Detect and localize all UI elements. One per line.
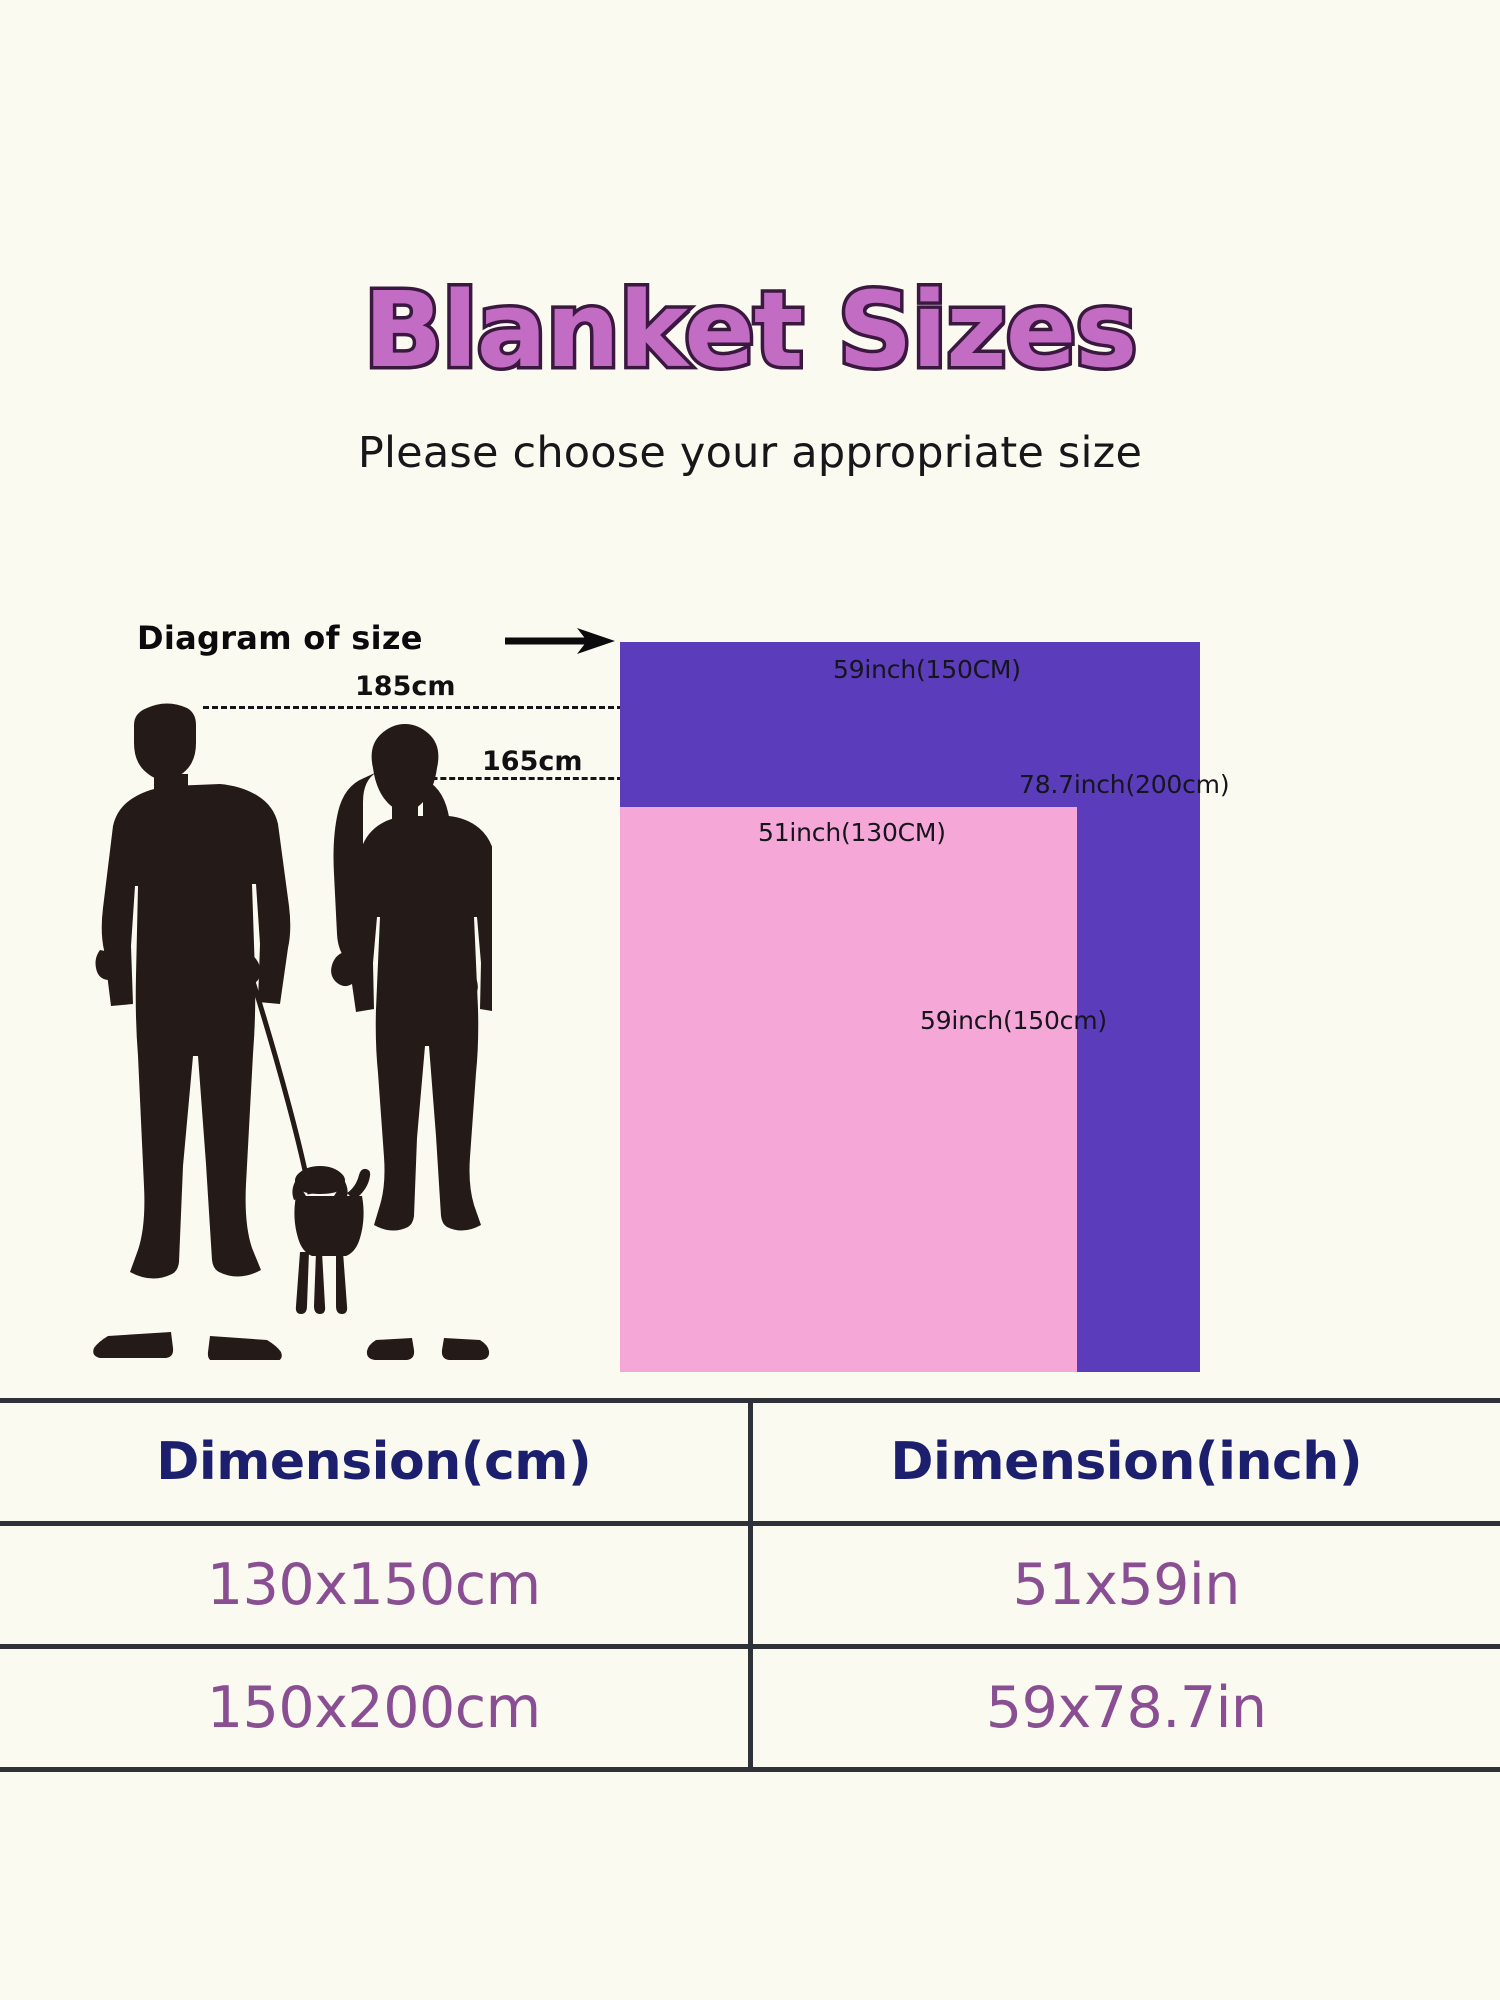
- couple-walking-dog-silhouette: [92, 700, 492, 1360]
- table-row: 150x200cm 59x78.7in: [0, 1647, 1500, 1770]
- header-label-cm: Dimension(cm): [156, 1432, 591, 1492]
- table-row: 130x150cm 51x59in: [0, 1524, 1500, 1647]
- page-title: Blanket Sizes: [364, 278, 1136, 382]
- table-cell-cm: 130x150cm: [0, 1524, 750, 1647]
- arrow-right-icon: [505, 628, 615, 654]
- diagram-label: Diagram of size: [137, 619, 423, 657]
- cell-value-inch: 51x59in: [1013, 1552, 1240, 1618]
- page-subtitle: Please choose your appropriate size: [358, 428, 1142, 478]
- cell-value-cm: 150x200cm: [207, 1675, 541, 1741]
- size-chart-page: Blanket Sizes Please choose your appropr…: [0, 0, 1500, 2000]
- cell-value-inch: 59x78.7in: [986, 1675, 1267, 1741]
- table-header-row: Dimension(cm) Dimension(inch): [0, 1401, 1500, 1524]
- table-header-cell-inch: Dimension(inch): [750, 1401, 1500, 1524]
- table-cell-inch: 51x59in: [750, 1524, 1500, 1647]
- size-table: Dimension(cm) Dimension(inch) 130x150cm …: [0, 1398, 1500, 1772]
- page-title-container: Blanket Sizes: [0, 278, 1500, 382]
- measure-label-185cm: 185cm: [355, 671, 456, 702]
- table-cell-inch: 59x78.7in: [750, 1647, 1500, 1770]
- header-label-inch: Dimension(inch): [890, 1432, 1362, 1492]
- blanket-block-small: [620, 807, 1077, 1372]
- blanket-small-height-label: 59inch(150cm): [920, 1006, 1107, 1035]
- table-header-cell-cm: Dimension(cm): [0, 1401, 750, 1524]
- table-cell-cm: 150x200cm: [0, 1647, 750, 1770]
- blanket-large-height-label: 78.7inch(200cm): [1019, 770, 1229, 799]
- page-subtitle-container: Please choose your appropriate size: [0, 428, 1500, 478]
- measure-label-165cm: 165cm: [482, 746, 583, 777]
- cell-value-cm: 130x150cm: [207, 1552, 541, 1618]
- blanket-small-width-label: 51inch(130CM): [758, 818, 946, 847]
- blanket-large-width-label: 59inch(150CM): [833, 655, 1021, 684]
